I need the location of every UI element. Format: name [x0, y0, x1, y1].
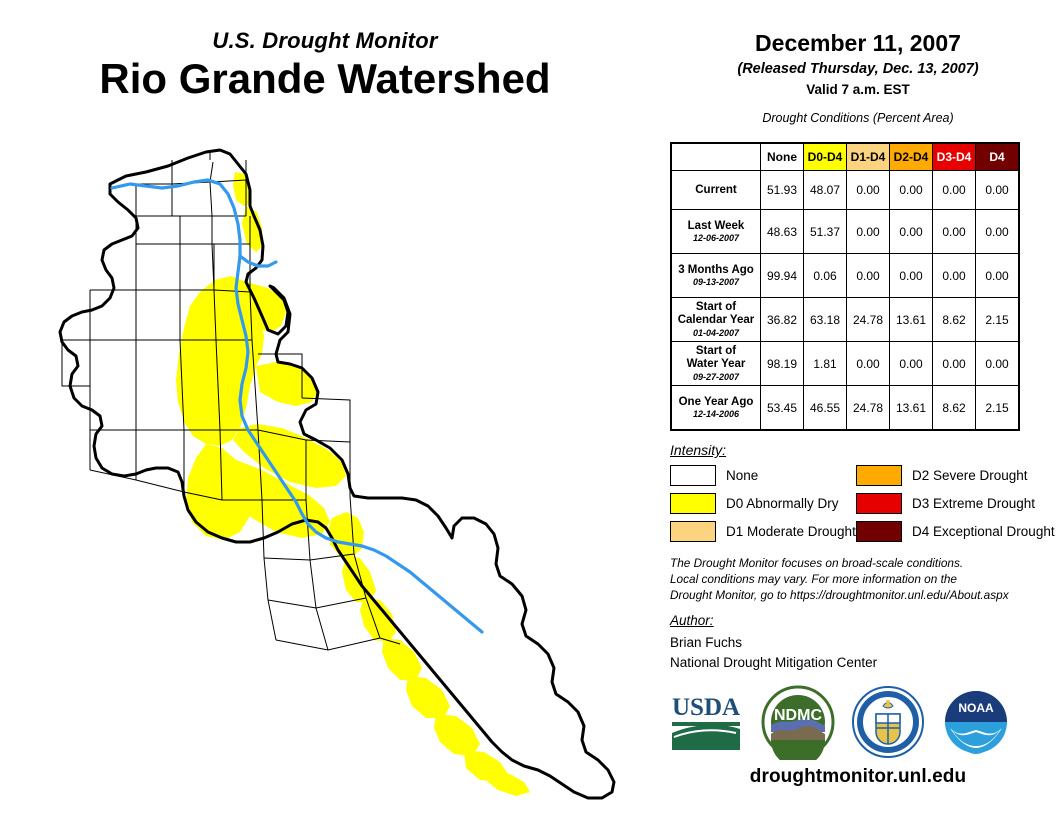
table-row: Current51.9348.070.000.000.000.00 [671, 171, 1019, 210]
table-row-label: Current [671, 171, 761, 210]
table-cell: 24.78 [847, 386, 890, 431]
table-cell: 48.07 [804, 171, 847, 210]
table-cell: 2.15 [976, 386, 1020, 431]
ndmc-logo-text: NDMC [774, 707, 822, 724]
legend-label: D4 Exceptional Drought [912, 524, 1055, 539]
usda-logo-svg: USDA [668, 688, 746, 756]
legend-item: D3 Extreme Drought [856, 493, 1042, 514]
legend-label: D2 Severe Drought [912, 468, 1028, 483]
table-cell: 51.37 [804, 210, 847, 254]
table-row-label: One Year Ago12-14-2006 [671, 386, 761, 431]
right-panel: December 11, 2007 (Released Thursday, De… [660, 0, 1056, 816]
table-cell: 0.00 [976, 254, 1020, 298]
table-cell: 24.78 [847, 298, 890, 342]
table-row-date: 01-04-2007 [672, 328, 760, 338]
doc-seal-logo [850, 684, 926, 765]
table-header: NoneD0-D4D1-D4D2-D4D3-D4D4 [671, 143, 1019, 171]
table-cell: 53.45 [761, 386, 804, 431]
table-body: Current51.9348.070.000.000.000.00Last We… [671, 171, 1019, 431]
author-affiliation: National Drought Mitigation Center [670, 653, 877, 673]
table-header-row: NoneD0-D4D1-D4D2-D4D3-D4D4 [671, 143, 1019, 171]
legend-swatch [856, 521, 902, 542]
legend-label: D3 Extreme Drought [912, 496, 1035, 511]
table-cell: 2.15 [976, 298, 1020, 342]
logo-row: USDA NDMC [660, 682, 1056, 774]
valid-date: December 11, 2007 [660, 30, 1056, 57]
note-line-1: The Drought Monitor focuses on broad-sca… [670, 556, 1055, 572]
legend-swatch [670, 493, 716, 514]
note-line-2: Local conditions may vary. For more info… [670, 572, 1055, 588]
table-cell: 0.00 [847, 210, 890, 254]
table-cell: 98.19 [761, 342, 804, 386]
table-row: 3 Months Ago09-13-200799.940.060.000.000… [671, 254, 1019, 298]
table-cell: 0.00 [890, 210, 933, 254]
table-row-label: Last Week12-06-2007 [671, 210, 761, 254]
site-url[interactable]: droughtmonitor.unl.edu [660, 766, 1056, 788]
table-cell: 0.00 [933, 171, 976, 210]
table-cell: 46.55 [804, 386, 847, 431]
valid-time: Valid 7 a.m. EST [660, 82, 1056, 97]
legend-label: D1 Moderate Drought [726, 524, 856, 539]
intensity-legend: Intensity: NoneD2 Severe DroughtD0 Abnor… [670, 442, 1050, 542]
table-cell: 0.00 [847, 171, 890, 210]
table-cell: 0.00 [847, 254, 890, 298]
legend-swatch [856, 493, 902, 514]
legend-label: D0 Abnormally Dry [726, 496, 839, 511]
table-cell: 8.62 [933, 386, 976, 431]
table-cell: 51.93 [761, 171, 804, 210]
table-row-date: 12-14-2006 [672, 409, 760, 419]
table-col-header-d0-d4: D0-D4 [804, 143, 847, 171]
doc-seal-svg [850, 684, 926, 760]
table-col-header-d1-d4: D1-D4 [847, 143, 890, 171]
legend-item: D0 Abnormally Dry [670, 493, 856, 514]
table-corner-cell [671, 143, 761, 171]
table-cell: 0.00 [847, 342, 890, 386]
table-cell: 0.00 [976, 342, 1020, 386]
map-river-rio-grande [112, 180, 482, 632]
table-cell: 63.18 [804, 298, 847, 342]
table-col-header-d3-d4: D3-D4 [933, 143, 976, 171]
table-cell: 13.61 [890, 386, 933, 431]
legend-heading: Intensity: [670, 442, 1050, 458]
legend-item: D4 Exceptional Drought [856, 521, 1042, 542]
map-drought-area-d0 [176, 172, 530, 796]
legend-item: D1 Moderate Drought [670, 521, 856, 542]
note-line-3: Drought Monitor, go to https://droughtmo… [670, 588, 1055, 604]
author-block: Brian Fuchs National Drought Mitigation … [670, 633, 877, 672]
table-row: One Year Ago12-14-200653.4546.5524.7813.… [671, 386, 1019, 431]
table-cell: 0.00 [890, 254, 933, 298]
legend-row: D1 Moderate DroughtD4 Exceptional Drough… [670, 521, 1050, 542]
legend-swatch [670, 465, 716, 486]
table-row-label: 3 Months Ago09-13-2007 [671, 254, 761, 298]
ndmc-logo: NDMC [760, 684, 836, 765]
table-col-header-none: None [761, 143, 804, 171]
noaa-logo-text: NOAA [958, 701, 994, 715]
table-row-label: Start ofWater Year09-27-2007 [671, 342, 761, 386]
table-caption: Drought Conditions (Percent Area) [660, 111, 1056, 125]
table-cell: 13.61 [890, 298, 933, 342]
author-name: Brian Fuchs [670, 633, 877, 653]
table-cell: 0.00 [933, 342, 976, 386]
table-row-label: Start ofCalendar Year01-04-2007 [671, 298, 761, 342]
drought-map[interactable] [50, 140, 650, 800]
page-title: Rio Grande Watershed [0, 56, 650, 101]
table-cell: 8.62 [933, 298, 976, 342]
legend-rows: NoneD2 Severe DroughtD0 Abnormally DryD3… [670, 465, 1050, 542]
legend-row: D0 Abnormally DryD3 Extreme Drought [670, 493, 1050, 514]
legend-item: None [670, 465, 856, 486]
disclaimer-note: The Drought Monitor focuses on broad-sca… [670, 556, 1055, 604]
table-cell: 0.00 [933, 254, 976, 298]
table-cell: 0.00 [890, 171, 933, 210]
legend-swatch [856, 465, 902, 486]
date-block: December 11, 2007 (Released Thursday, De… [660, 0, 1056, 97]
noaa-logo-svg: NOAA [938, 684, 1014, 760]
legend-row: NoneD2 Severe Drought [670, 465, 1050, 486]
table-row: Start ofCalendar Year01-04-200736.8263.1… [671, 298, 1019, 342]
table-col-header-d2-d4: D2-D4 [890, 143, 933, 171]
table-cell: 0.00 [976, 210, 1020, 254]
table-cell: 0.00 [933, 210, 976, 254]
table-row-date: 12-06-2007 [672, 233, 760, 243]
table-cell: 1.81 [804, 342, 847, 386]
legend-item: D2 Severe Drought [856, 465, 1042, 486]
table-cell: 48.63 [761, 210, 804, 254]
author-heading: Author: [670, 613, 714, 628]
ndmc-logo-svg: NDMC [760, 684, 836, 760]
map-svg [50, 140, 650, 800]
table-row-date: 09-27-2007 [672, 372, 760, 382]
legend-label: None [726, 468, 758, 483]
table-row-date: 09-13-2007 [672, 277, 760, 287]
table-cell: 0.00 [976, 171, 1020, 210]
table-col-header-d4: D4 [976, 143, 1020, 171]
table-cell: 99.94 [761, 254, 804, 298]
table-cell: 0.06 [804, 254, 847, 298]
noaa-logo: NOAA [938, 684, 1014, 765]
usda-logo: USDA [668, 688, 746, 761]
released-date: (Released Thursday, Dec. 13, 2007) [660, 61, 1056, 77]
drought-conditions-table: NoneD0-D4D1-D4D2-D4D3-D4D4 Current51.934… [670, 142, 1020, 431]
table-cell: 0.00 [890, 342, 933, 386]
legend-swatch [670, 521, 716, 542]
usda-logo-text: USDA [672, 694, 740, 721]
program-title: U.S. Drought Monitor [0, 28, 650, 54]
title-block: U.S. Drought Monitor Rio Grande Watershe… [0, 28, 650, 101]
table-cell: 36.82 [761, 298, 804, 342]
table-row: Last Week12-06-200748.6351.370.000.000.0… [671, 210, 1019, 254]
table-row: Start ofWater Year09-27-200798.191.810.0… [671, 342, 1019, 386]
